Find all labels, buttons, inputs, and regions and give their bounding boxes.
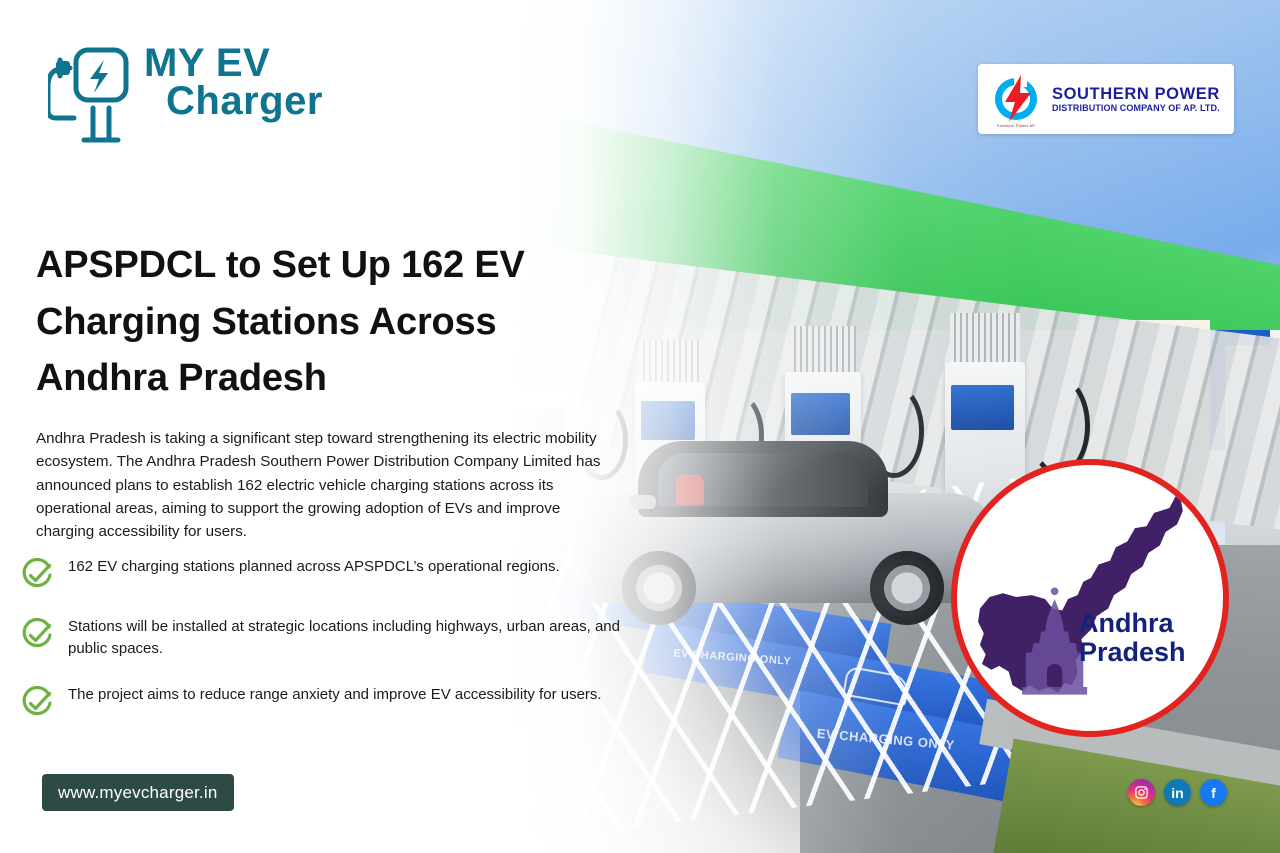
list-item: Stations will be installed at strategic … [20, 616, 660, 660]
partner-subtitle: DISTRIBUTION COMPANY OF AP. LTD. [1052, 103, 1220, 113]
brand-name-line1: MY EV [144, 44, 323, 82]
article-body: Andhra Pradesh is taking a significant s… [36, 427, 621, 543]
highlights-list: 162 EV charging stations planned across … [20, 556, 660, 744]
check-circle-icon [20, 558, 54, 592]
map-label-line2: Pradesh [1079, 638, 1207, 667]
andhra-pradesh-map-badge: Andhra Pradesh [951, 459, 1229, 737]
map-label: Andhra Pradesh [1079, 609, 1207, 667]
brand-name-line2: Charger [144, 82, 323, 120]
poster-canvas: EV CHARGING ONLY EV CHARGING ONLY [0, 0, 1280, 853]
instagram-icon[interactable] [1128, 779, 1155, 806]
apspdcl-partner-badge[interactable]: Southern Power AP SOUTHERN POWER DISTRIB… [978, 64, 1234, 134]
social-links: in f [1128, 779, 1227, 806]
check-circle-icon [20, 618, 54, 652]
ev-charger-station-icon [48, 46, 134, 144]
linkedin-icon[interactable]: in [1164, 779, 1191, 806]
list-item: The project aims to reduce range anxiety… [20, 684, 660, 720]
partner-name: SOUTHERN POWER [1052, 85, 1220, 103]
website-url-badge[interactable]: www.myevcharger.in [42, 774, 234, 811]
page-title: APSPDCL to Set Up 162 EV Charging Statio… [36, 237, 556, 406]
mark-caption: Southern Power AP [988, 123, 1044, 128]
check-circle-icon [20, 686, 54, 720]
list-item-text: 162 EV charging stations planned across … [68, 556, 638, 578]
facebook-glyph: f [1211, 785, 1216, 801]
brand-logo[interactable]: MY EV Charger [48, 42, 368, 152]
southern-power-bolt-icon: Southern Power AP [988, 71, 1044, 127]
website-url-text: www.myevcharger.in [58, 783, 218, 803]
list-item-text: Stations will be installed at strategic … [68, 616, 638, 660]
list-item-text: The project aims to reduce range anxiety… [68, 684, 638, 706]
linkedin-glyph: in [1171, 785, 1183, 801]
list-item: 162 EV charging stations planned across … [20, 556, 660, 592]
facebook-icon[interactable]: f [1200, 779, 1227, 806]
partner-name-block: SOUTHERN POWER DISTRIBUTION COMPANY OF A… [1052, 85, 1220, 114]
map-label-line1: Andhra [1079, 609, 1207, 638]
brand-wordmark: MY EV Charger [144, 44, 323, 121]
